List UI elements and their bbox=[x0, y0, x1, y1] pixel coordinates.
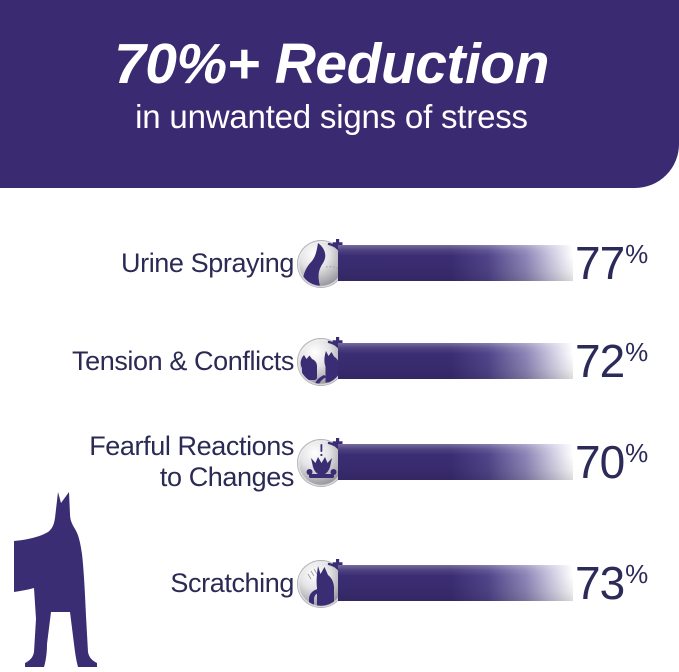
bar-track bbox=[338, 565, 573, 601]
bar-value: 73 % bbox=[575, 553, 647, 613]
bar-value-number: 77 bbox=[575, 240, 624, 286]
bar-track bbox=[338, 444, 573, 480]
page-subtitle: in unwanted signs of stress bbox=[135, 96, 528, 138]
percent-symbol: % bbox=[625, 241, 647, 267]
row-label: Scratching bbox=[14, 568, 294, 599]
row-label: Tension & Conflicts bbox=[14, 346, 294, 377]
bar-value: 77 % bbox=[575, 233, 647, 293]
bar-value: 72 % bbox=[575, 331, 647, 391]
row-label: Fearful Reactions to Changes bbox=[14, 431, 294, 493]
stress-reduction-chart: Urine Spraying bbox=[0, 188, 679, 667]
bar-value-number: 73 bbox=[575, 560, 624, 606]
bar-value: 70 % bbox=[575, 432, 647, 492]
chart-row-fearful-reactions: Fearful Reactions to Changes bbox=[0, 432, 679, 492]
header-banner: 70%+ Reduction in unwanted signs of stre… bbox=[0, 0, 679, 188]
bar-track bbox=[338, 245, 573, 281]
percent-symbol: % bbox=[625, 339, 647, 365]
chart-row-urine-spraying: Urine Spraying bbox=[0, 233, 679, 293]
chart-row-tension-conflicts: Tension & Conflicts bbox=[0, 331, 679, 391]
percent-symbol: % bbox=[625, 561, 647, 587]
bar-value-number: 70 bbox=[575, 439, 624, 485]
bar-value-number: 72 bbox=[575, 338, 624, 384]
bar-track bbox=[338, 343, 573, 379]
chart-row-scratching: Scratching bbox=[0, 553, 679, 613]
percent-symbol: % bbox=[625, 440, 647, 466]
page-title: 70%+ Reduction bbox=[114, 32, 549, 96]
row-label: Urine Spraying bbox=[14, 248, 294, 279]
